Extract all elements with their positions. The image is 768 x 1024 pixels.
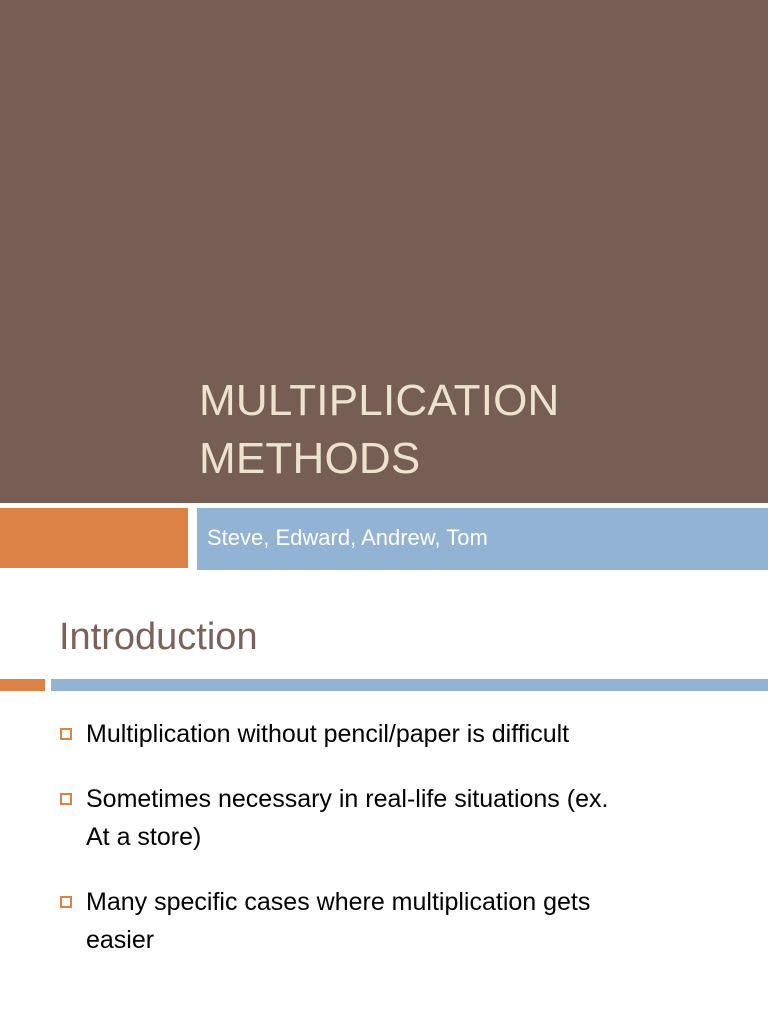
title-slide: MULTIPLICATION METHODS Steve, Edward, An… (0, 0, 768, 571)
title-orange-accent-bar (0, 508, 188, 568)
content-slide: Introduction Multiplication without penc… (0, 571, 768, 1024)
presentation-title: MULTIPLICATION METHODS (199, 372, 759, 488)
slide-heading: Introduction (59, 614, 258, 660)
heading-divider (0, 679, 768, 691)
divider-blue-segment (51, 679, 768, 691)
subtitle-bar: Steve, Edward, Andrew, Tom (197, 508, 768, 570)
list-item-label: Many specific cases where multiplication… (86, 883, 758, 959)
hollow-square-bullet-icon (60, 896, 72, 908)
bullet-list: Multiplication without pencil/paper is d… (58, 715, 758, 959)
list-item: Sometimes necessary in real-life situati… (58, 780, 758, 856)
hollow-square-bullet-icon (60, 793, 72, 805)
title-block: MULTIPLICATION METHODS (199, 372, 759, 488)
list-item: Many specific cases where multiplication… (58, 883, 758, 959)
slide-deck: MULTIPLICATION METHODS Steve, Edward, An… (0, 0, 768, 1024)
list-item-label: Sometimes necessary in real-life situati… (86, 780, 758, 856)
divider-orange-segment (0, 679, 45, 691)
hollow-square-bullet-icon (60, 728, 72, 740)
list-item: Multiplication without pencil/paper is d… (58, 715, 758, 753)
presentation-authors: Steve, Edward, Andrew, Tom (207, 523, 488, 553)
list-item-label: Multiplication without pencil/paper is d… (86, 715, 758, 753)
